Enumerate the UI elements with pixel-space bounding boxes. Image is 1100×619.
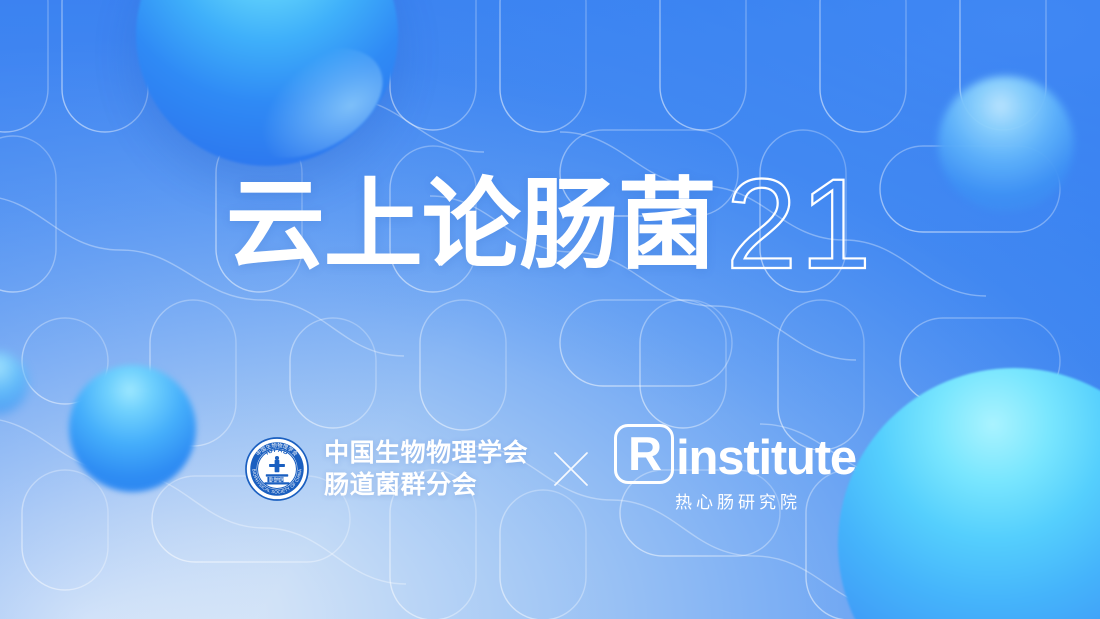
r-institute-wordmark: R institute (614, 424, 856, 484)
r-badge-letter: R (628, 430, 662, 477)
svg-text:生物物理: 生物物理 (271, 476, 285, 481)
r-badge-icon: R (614, 424, 674, 484)
x-separator-icon (528, 449, 614, 489)
rounded-pill-pattern (0, 0, 1100, 619)
sphere-decoration-left-edge (0, 352, 28, 414)
r-institute-word: institute (676, 434, 856, 483)
org-name-line-1: 中国生物物理学会 (324, 437, 528, 469)
biophysical-society-of-china-emblem-icon: IUPAB 中国生物物理学会 BIOPHYSICAL SOCIETY OF CH… (244, 436, 310, 502)
background-sheen (0, 0, 1100, 619)
poster-canvas: 云上论肠菌 21 IUPAB 中国生物物理学会 (0, 0, 1100, 619)
poster-title-edition-number: 21 (726, 166, 874, 284)
logo-r-institute: R institute 热心肠研究院 (614, 424, 856, 513)
org-name-line-2: 肠道菌群分会 (324, 469, 528, 501)
organization-name-block: 中国生物物理学会 肠道菌群分会 (324, 437, 528, 501)
logo-biophysical-society: IUPAB 中国生物物理学会 BIOPHYSICAL SOCIETY OF CH… (244, 436, 528, 502)
partner-logo-row: IUPAB 中国生物物理学会 BIOPHYSICAL SOCIETY OF CH… (0, 424, 1100, 513)
poster-title: 云上论肠菌 21 (0, 160, 1100, 278)
r-institute-subtitle: 热心肠研究院 (669, 488, 801, 513)
poster-title-text: 云上论肠菌 (226, 173, 716, 278)
sphere-decoration-top-center (136, 0, 398, 166)
